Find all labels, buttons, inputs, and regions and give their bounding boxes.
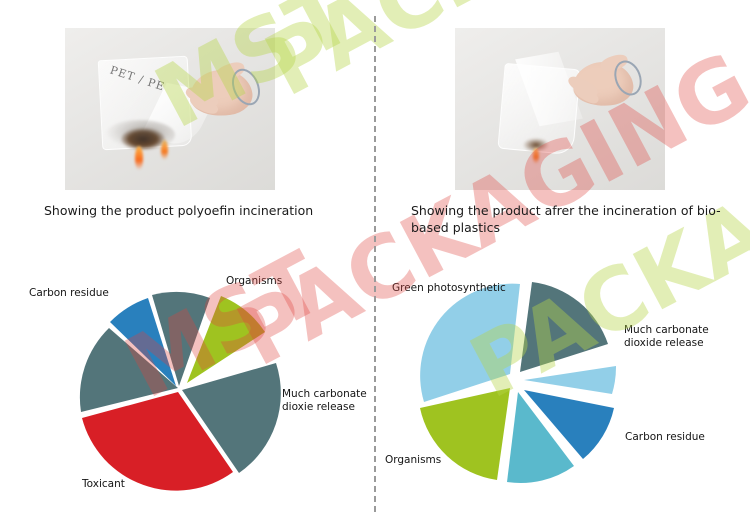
left-caption: Showing the product polyoefin incinerati…: [44, 202, 364, 219]
pie-label-organisms: Organisms: [385, 454, 441, 467]
slice-green-photosynthetic[interactable]: [420, 284, 520, 402]
photo-polyolefin-incineration: PET / PE: [65, 28, 275, 190]
page-root: MST PACKAGING MST PACKAGING PACKAGING PE…: [0, 0, 750, 528]
flame-shape-1: [533, 148, 539, 164]
pie-label-carbon-residue: Carbon residue: [29, 287, 109, 300]
slice-much-carbonate[interactable]: [520, 282, 608, 372]
pie-chart-polyolefin: Carbon residue Organisms Much carbonate …: [30, 262, 330, 512]
right-caption: Showing the product afrer the incinerati…: [411, 202, 731, 236]
pie-label-carbon-residue: Carbon residue: [625, 431, 705, 444]
pie-slices-polyolefin: [80, 292, 281, 491]
pie-label-organisms: Organisms: [226, 275, 282, 288]
pie-slices-biobased: [420, 282, 616, 483]
pie-svg-biobased: [392, 268, 742, 513]
smoke-smudge: [105, 120, 175, 150]
panel-divider: [374, 16, 376, 512]
photo-biobased-incineration: [455, 28, 665, 190]
pie-label-much-carbonate: Much carbonate dioxide release: [624, 324, 716, 350]
pie-label-green-photosynthetic: Green photosynthetic: [392, 282, 506, 295]
pie-label-toxicant: Toxicant: [82, 478, 125, 491]
pie-label-much-carbonate: Much carbonate dioxie release: [282, 388, 368, 414]
slice-light-blue-sliver[interactable]: [524, 366, 616, 394]
left-panel: PET / PE Showing the product polyoefin i…: [0, 0, 375, 528]
right-panel: Showing the product afrer the incinerati…: [375, 0, 750, 528]
pie-chart-biobased: Green photosynthetic Much carbonate diox…: [392, 268, 742, 513]
